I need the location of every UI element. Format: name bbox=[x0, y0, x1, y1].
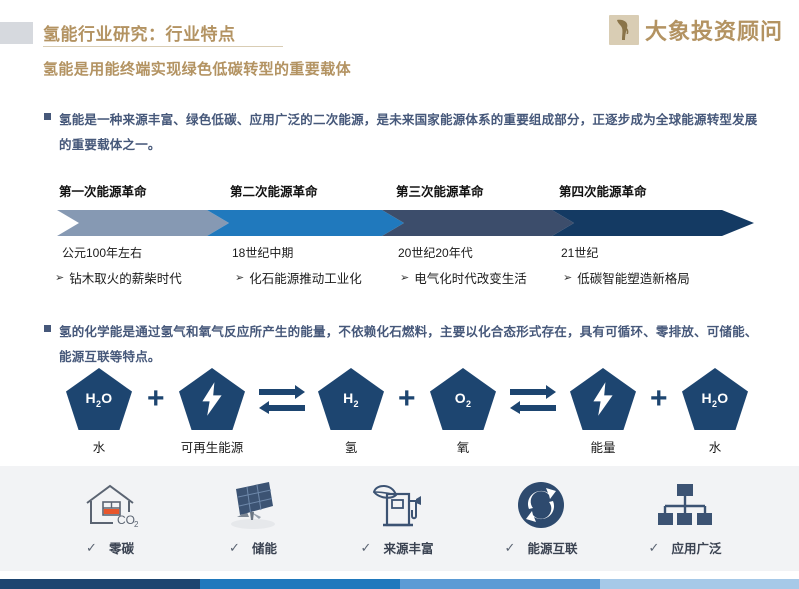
solar-panel-icon bbox=[178, 476, 328, 534]
timeline-year-1: 公元100年左右 bbox=[62, 244, 142, 261]
footer-segment bbox=[200, 579, 400, 589]
logo-text: 大象投资顾问 bbox=[645, 14, 783, 46]
energy-bolt-pentagon bbox=[179, 368, 245, 430]
page-title: 氢能行业研究：行业特点 bbox=[43, 20, 236, 45]
equilibrium-arrows-icon-2 bbox=[510, 384, 556, 414]
pentagon-formula: H2O bbox=[86, 390, 113, 409]
timeline-item-3: ➢ 电气化时代改变生活 bbox=[400, 268, 527, 287]
chevron-right-icon: ➢ bbox=[235, 271, 244, 284]
reaction-node-energy: 能量 bbox=[570, 368, 636, 456]
feature-row: ✓ 零碳 bbox=[35, 538, 185, 557]
chevron-right-icon: ➢ bbox=[400, 271, 409, 284]
timeline-item-label: 化石能源推动工业化 bbox=[249, 268, 362, 287]
feature-storage: ✓ 储能 bbox=[178, 466, 328, 571]
bullet-square-icon bbox=[44, 113, 51, 120]
reaction-caption: 氧 bbox=[430, 437, 496, 456]
feature-label: 来源丰富 bbox=[383, 538, 433, 557]
bullet-text: 氢能是一种来源丰富、绿色低碳、应用广泛的二次能源，是未来国家能源体系的重要组成部… bbox=[59, 108, 760, 158]
water-pentagon: H2O bbox=[66, 368, 132, 430]
elephant-logo-icon bbox=[609, 15, 639, 45]
timeline-item-label: 电气化时代改变生活 bbox=[414, 268, 527, 287]
reaction-node-hydrogen: H2 氢 bbox=[318, 368, 384, 456]
title-underline bbox=[43, 46, 283, 47]
hydrogen-pentagon: H2 bbox=[318, 368, 384, 430]
company-logo: 大象投资顾问 bbox=[609, 14, 783, 46]
feature-strip: CO 2 ✓ 零碳 bbox=[0, 466, 799, 571]
timeline-item-4: ➢ 低碳智能塑造新格局 bbox=[563, 268, 690, 287]
feature-label: 零碳 bbox=[109, 538, 134, 557]
page-subtitle: 氢能是用能终端实现绿色低碳转型的重要载体 bbox=[43, 58, 351, 79]
check-icon: ✓ bbox=[649, 540, 660, 556]
chevron-right-icon: ➢ bbox=[55, 271, 64, 284]
reaction-caption: 水 bbox=[682, 437, 748, 456]
pentagon-formula: H2 bbox=[343, 390, 359, 409]
timeline-label-1: 第一次能源革命 bbox=[59, 181, 147, 200]
timeline-arrow bbox=[57, 210, 754, 236]
reaction-caption: 水 bbox=[66, 437, 132, 456]
feature-label: 应用广泛 bbox=[671, 538, 721, 557]
svg-text:CO: CO bbox=[117, 513, 135, 527]
reaction-node-renewable: 可再生能源 bbox=[179, 368, 245, 456]
timeline-label-3: 第三次能源革命 bbox=[396, 181, 484, 200]
slide: 氢能行业研究：行业特点 氢能是用能终端实现绿色低碳转型的重要载体 大象投资顾问 … bbox=[0, 0, 799, 589]
feature-zero-carbon: CO 2 ✓ 零碳 bbox=[35, 466, 185, 571]
pentagon-formula: O2 bbox=[455, 390, 472, 409]
energy-bolt-pentagon bbox=[570, 368, 636, 430]
bullet-point-1: 氢能是一种来源丰富、绿色低碳、应用广泛的二次能源，是未来国家能源体系的重要组成部… bbox=[44, 108, 760, 158]
reaction-caption: 可再生能源 bbox=[179, 437, 245, 456]
reaction-caption: 能量 bbox=[570, 437, 636, 456]
feature-label: 储能 bbox=[252, 538, 277, 557]
chevron-right-icon: ➢ bbox=[563, 271, 572, 284]
bullet-point-2: 氢的化学能是通过氢气和氧气反应所产生的能量，不依赖化石燃料，主要以化合态形式存在… bbox=[44, 320, 760, 370]
footer-segment bbox=[0, 579, 200, 589]
house-co2-icon: CO 2 bbox=[35, 476, 185, 534]
timeline-label-2: 第二次能源革命 bbox=[230, 181, 318, 200]
reaction-caption: 氢 bbox=[318, 437, 384, 456]
oxygen-pentagon: O2 bbox=[430, 368, 496, 430]
feature-label: 能源互联 bbox=[527, 538, 577, 557]
bullet-text: 氢的化学能是通过氢气和氧气反应所产生的能量，不依赖化石燃料，主要以化合态形式存在… bbox=[59, 320, 760, 370]
timeline-year-4: 21世纪 bbox=[561, 244, 598, 261]
timeline-year-2: 18世纪中期 bbox=[232, 244, 293, 261]
feature-energy-interconnect: ✓ 能源互联 bbox=[466, 466, 616, 571]
footer-segment bbox=[600, 579, 799, 589]
timeline-year-3: 20世纪20年代 bbox=[398, 244, 473, 261]
timeline-item-label: 低碳智能塑造新格局 bbox=[577, 268, 690, 287]
recycle-arrows-icon bbox=[466, 476, 616, 534]
reaction-node-water-right: H2O 水 bbox=[682, 368, 748, 456]
feature-row: ✓ 能源互联 bbox=[466, 538, 616, 557]
footer-color-bar bbox=[0, 579, 799, 589]
feature-wide-application: ✓ 应用广泛 bbox=[610, 466, 760, 571]
timeline-item-label: 钻木取火的薪柴时代 bbox=[69, 268, 182, 287]
green-fuel-pump-icon bbox=[322, 476, 472, 534]
check-icon: ✓ bbox=[361, 540, 372, 556]
lightning-bolt-icon bbox=[197, 381, 227, 417]
footer-segment bbox=[400, 579, 600, 589]
plus-icon-2: + bbox=[398, 384, 416, 414]
feature-abundant-source: ✓ 来源丰富 bbox=[322, 466, 472, 571]
check-icon: ✓ bbox=[229, 540, 240, 556]
feature-row: ✓ 来源丰富 bbox=[322, 538, 472, 557]
reaction-node-oxygen: O2 氧 bbox=[430, 368, 496, 456]
plus-icon-1: + bbox=[147, 384, 165, 414]
header-accent-block bbox=[0, 22, 33, 44]
org-network-icon bbox=[610, 476, 760, 534]
feature-row: ✓ 储能 bbox=[178, 538, 328, 557]
plus-icon-3: + bbox=[650, 384, 668, 414]
equilibrium-arrows-icon-1 bbox=[259, 384, 305, 414]
pentagon-formula: H2O bbox=[702, 390, 729, 409]
hydrogen-reaction-diagram: H2O 水 + 可再生能源 H2 氢 + bbox=[0, 368, 799, 460]
timeline-label-4: 第四次能源革命 bbox=[559, 181, 647, 200]
bullet-square-icon bbox=[44, 325, 51, 332]
lightning-bolt-icon bbox=[588, 381, 618, 417]
timeline-item-1: ➢ 钻木取火的薪柴时代 bbox=[55, 268, 182, 287]
feature-row: ✓ 应用广泛 bbox=[610, 538, 760, 557]
water-pentagon: H2O bbox=[682, 368, 748, 430]
check-icon: ✓ bbox=[505, 540, 516, 556]
check-icon: ✓ bbox=[86, 540, 97, 556]
reaction-node-water-left: H2O 水 bbox=[66, 368, 132, 456]
svg-text:2: 2 bbox=[134, 520, 139, 529]
timeline-item-2: ➢ 化石能源推动工业化 bbox=[235, 268, 362, 287]
